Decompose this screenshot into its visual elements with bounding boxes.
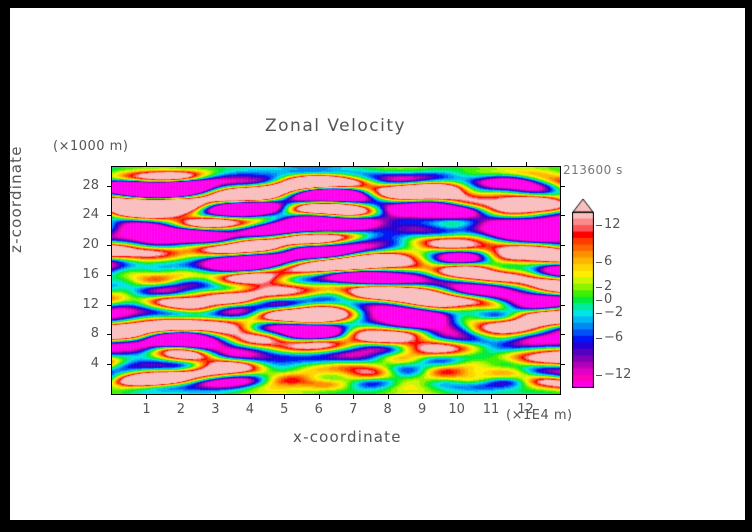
y-tick <box>560 245 565 246</box>
x-axis-unit-label: (×1E4 m) <box>506 408 573 423</box>
colorbar-tick-label: −6 <box>604 330 623 345</box>
figure-page: Zonal Velocity (×1000 m) 213600 s 123456… <box>10 8 745 520</box>
page-title: Zonal Velocity <box>265 116 406 136</box>
x-tick-label: 2 <box>166 402 196 417</box>
x-tick <box>181 162 182 167</box>
x-tick <box>491 162 492 167</box>
x-tick <box>388 394 389 399</box>
x-tick <box>215 162 216 167</box>
colorbar-tick <box>596 338 602 339</box>
x-tick <box>146 162 147 167</box>
y-tick <box>560 186 565 187</box>
y-tick-label: 4 <box>69 356 99 371</box>
x-tick-label: 8 <box>373 402 403 417</box>
y-tick-label: 8 <box>69 326 99 341</box>
y-tick <box>107 334 112 335</box>
colorbar-tick <box>596 262 602 263</box>
y-tick <box>560 334 565 335</box>
contour-plot-area <box>111 166 561 395</box>
colorbar-tick-label: −12 <box>604 367 631 382</box>
x-axis-title: x-coordinate <box>293 428 402 446</box>
x-tick <box>526 162 527 167</box>
x-tick <box>181 394 182 399</box>
figure-border: Zonal Velocity (×1000 m) 213600 s 123456… <box>0 0 752 532</box>
x-tick-label: 11 <box>476 402 506 417</box>
y-tick <box>107 364 112 365</box>
colorbar-tick <box>596 225 602 226</box>
x-tick-label: 3 <box>200 402 230 417</box>
x-tick <box>422 394 423 399</box>
x-tick <box>319 394 320 399</box>
colorbar-tick <box>596 287 602 288</box>
y-tick-label: 20 <box>69 237 99 252</box>
y-tick-label: 24 <box>69 207 99 222</box>
colorbar-tick-label: 6 <box>604 254 612 269</box>
y-tick <box>560 215 565 216</box>
x-tick-label: 4 <box>235 402 265 417</box>
x-tick <box>353 394 354 399</box>
y-tick-label: 16 <box>69 267 99 282</box>
y-tick <box>560 305 565 306</box>
y-tick <box>107 305 112 306</box>
x-tick <box>215 394 216 399</box>
x-tick-label: 7 <box>338 402 368 417</box>
x-tick <box>353 162 354 167</box>
y-axis-title: z-coordinate <box>7 145 25 253</box>
time-annotation: 213600 s <box>563 163 623 177</box>
x-tick <box>284 394 285 399</box>
x-tick <box>146 394 147 399</box>
y-tick <box>560 275 565 276</box>
x-tick <box>457 162 458 167</box>
y-tick <box>107 275 112 276</box>
colorbar-tick <box>596 300 602 301</box>
y-tick-label: 28 <box>69 178 99 193</box>
x-tick-label: 9 <box>407 402 437 417</box>
x-tick-label: 5 <box>269 402 299 417</box>
x-tick <box>250 394 251 399</box>
colorbar-tick-label: −2 <box>604 305 623 320</box>
y-tick <box>560 364 565 365</box>
colorbar-gradient <box>572 198 594 388</box>
colorbar-tick-label: 12 <box>604 217 621 232</box>
x-tick-label: 1 <box>131 402 161 417</box>
x-tick <box>457 394 458 399</box>
x-tick <box>250 162 251 167</box>
x-tick <box>319 162 320 167</box>
y-tick <box>107 215 112 216</box>
x-tick <box>422 162 423 167</box>
colorbar-tick <box>596 313 602 314</box>
colorbar <box>572 198 594 388</box>
y-tick-label: 12 <box>69 297 99 312</box>
y-axis-unit-label: (×1000 m) <box>53 139 128 154</box>
y-tick <box>107 245 112 246</box>
x-tick-label: 6 <box>304 402 334 417</box>
y-tick <box>107 186 112 187</box>
colorbar-tick <box>596 375 602 376</box>
x-tick <box>526 394 527 399</box>
x-tick <box>284 162 285 167</box>
x-tick <box>388 162 389 167</box>
x-tick <box>491 394 492 399</box>
x-tick-label: 10 <box>442 402 472 417</box>
zonal-velocity-field <box>112 167 560 394</box>
